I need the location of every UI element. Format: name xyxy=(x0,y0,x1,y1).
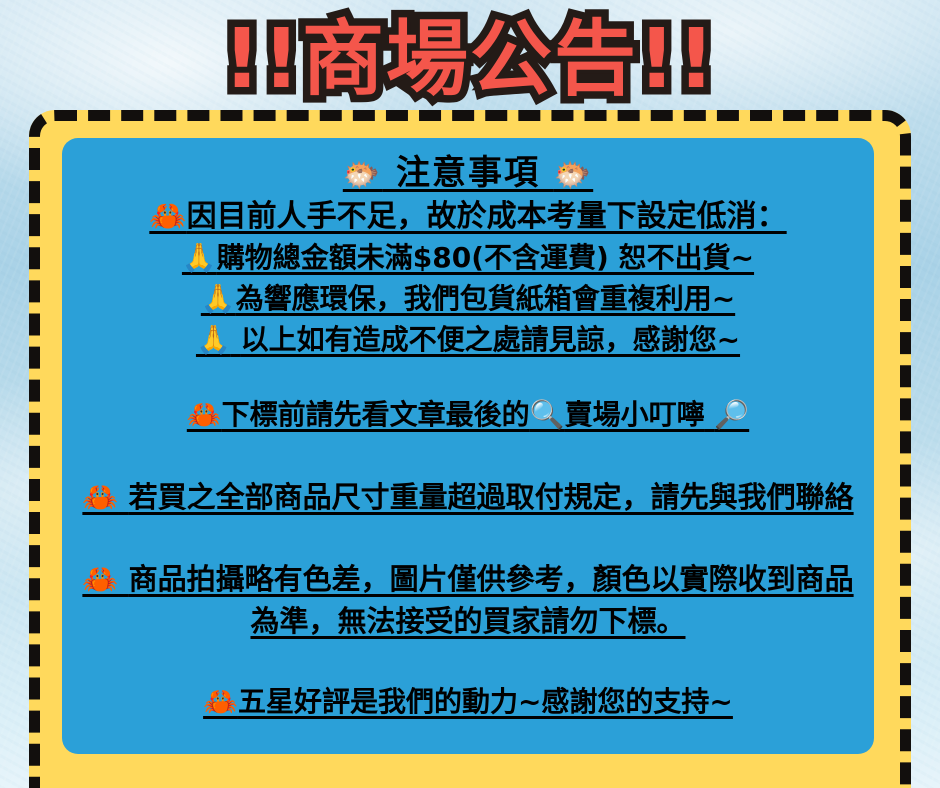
magnifier-left-icon: 🔍 xyxy=(530,398,565,431)
five-star-thanks-line: 🦀五星好評是我們的動力~感謝您的支持~ xyxy=(66,682,870,723)
minimum-order-item-3-label: 以上如有造成不便之處請見諒，感謝您~ xyxy=(241,323,740,356)
notice-content: 🐡 注意事項 🐡 🦀因目前人手不足，故於成本考量下設定低消： 🙏購物總金額未滿$… xyxy=(62,138,874,754)
minimum-order-item-1: 🙏購物總金額未滿$80(不含運費) 恕不出貨~ xyxy=(66,238,870,279)
spacer xyxy=(66,361,870,395)
blowfish-icon-left: 🐡 xyxy=(343,158,382,193)
spacer xyxy=(66,518,870,558)
read-shop-notes-highlight: 賣場小叮嚀 xyxy=(565,398,705,431)
announcement-banner: !!商場公告!! 🐡 注意事項 🐡 🦀因目前人手不足，故於成本考量下設定低消： xyxy=(0,0,940,788)
minimum-order-item-3: 🙏 以上如有造成不便之處請見諒，感謝您~ xyxy=(66,320,870,361)
pray-icon: 🙏 xyxy=(196,323,231,356)
minimum-order-lead-label: 因目前人手不足，故於成本考量下設定低消： xyxy=(187,199,787,234)
notice-panel: 🐡 注意事項 🐡 🦀因目前人手不足，故於成本考量下設定低消： 🙏購物總金額未滿$… xyxy=(62,138,874,754)
color-difference-line: 🦀 商品拍攝略有色差，圖片僅供參考，顏色以實際收到商品為準，無法接受的買家請勿下… xyxy=(66,558,870,642)
spacer xyxy=(66,436,870,476)
minimum-order-item-2-label: 為響應環保，我們包貨紙箱會重複利用~ xyxy=(236,282,735,315)
minimum-order-lead: 🦀因目前人手不足，故於成本考量下設定低消： xyxy=(66,196,870,239)
pray-icon: 🙏 xyxy=(201,282,236,315)
page-title: !!商場公告!! xyxy=(223,19,717,101)
minimum-order-item-2: 🙏為響應環保，我們包貨紙箱會重複利用~ xyxy=(66,279,870,320)
spacer xyxy=(66,642,870,682)
color-difference-label: 商品拍攝略有色差，圖片僅供參考，顏色以實際收到商品為準，無法接受的買家請勿下標。 xyxy=(129,562,854,638)
minimum-order-item-1-label: 購物總金額未滿$80(不含運費) 恕不出貨~ xyxy=(217,241,754,274)
read-shop-notes-line: 🦀下標前請先看文章最後的🔍賣場小叮嚀 🔎 xyxy=(66,395,870,436)
crab-icon: 🦀 xyxy=(149,199,186,234)
magnifier-right-icon: 🔎 xyxy=(714,398,749,431)
notice-header-label: 注意事項 xyxy=(396,153,540,193)
crab-icon: 🦀 xyxy=(82,562,118,596)
crab-icon: 🦀 xyxy=(203,685,238,718)
oversize-contact-label: 若買之全部商品尺寸重量超過取付規定，請先與我們聯絡 xyxy=(129,480,854,514)
pray-icon: 🙏 xyxy=(182,241,217,274)
crab-icon: 🦀 xyxy=(82,480,118,514)
oversize-contact-line: 🦀 若買之全部商品尺寸重量超過取付規定，請先與我們聯絡 xyxy=(66,476,870,518)
notice-header: 🐡 注意事項 🐡 xyxy=(66,152,870,196)
crab-icon: 🦀 xyxy=(187,398,222,431)
read-shop-notes-prefix: 下標前請先看文章最後的 xyxy=(222,398,530,431)
five-star-thanks-label: 五星好評是我們的動力~感謝您的支持~ xyxy=(238,685,733,718)
banner-title-area: !!商場公告!! xyxy=(0,6,940,114)
blowfish-icon-right: 🐡 xyxy=(554,158,593,193)
